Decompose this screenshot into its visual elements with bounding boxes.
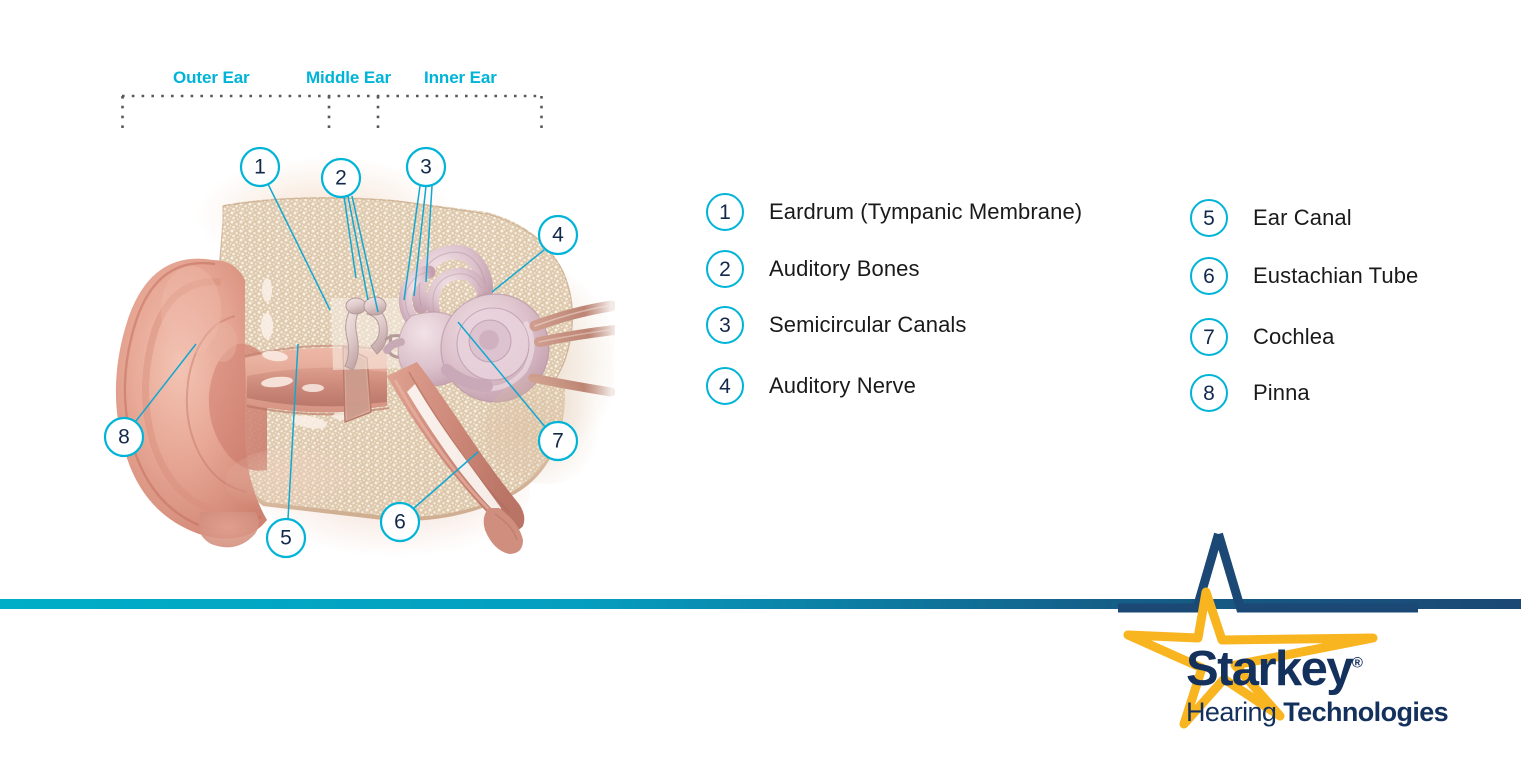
legend-item-1[interactable]: 1 Eardrum (Tympanic Membrane) [706,193,1082,231]
legend-item-5[interactable]: 5 Ear Canal [1190,199,1352,237]
logo-tagline-light: Hearing [1186,697,1283,727]
legend-item-2[interactable]: 2 Auditory Bones [706,250,920,288]
legend-label-2: Auditory Bones [769,256,920,282]
legend-label-4: Auditory Nerve [769,373,916,399]
logo-wordmark: Starkey® Hearing Technologies [1186,645,1521,726]
legend-label-7: Cochlea [1253,324,1334,350]
legend-badge-1: 1 [706,193,744,231]
legend-label-5: Ear Canal [1253,205,1352,231]
legend-badge-5: 5 [1190,199,1228,237]
legend-badge-4: 4 [706,367,744,405]
ear-anatomy-infographic: { "diagram": { "title": "Anatomy of the … [0,0,1521,781]
legend-label-8: Pinna [1253,380,1310,406]
legend-item-4[interactable]: 4 Auditory Nerve [706,367,916,405]
parts-legend: 1 Eardrum (Tympanic Membrane) 2 Auditory… [706,193,1506,423]
legend-badge-2: 2 [706,250,744,288]
registered-trademark-icon: ® [1352,655,1363,672]
legend-item-3[interactable]: 3 Semicircular Canals [706,306,967,344]
legend-badge-7: 7 [1190,318,1228,356]
ear-anatomy-illustration [95,130,615,570]
legend-badge-3: 3 [706,306,744,344]
legend-label-1: Eardrum (Tympanic Membrane) [769,199,1082,225]
logo-brand-name: Starkey® [1186,645,1363,694]
logo-tagline: Hearing Technologies [1186,699,1521,726]
legend-item-8[interactable]: 8 Pinna [1190,374,1310,412]
legend-badge-6: 6 [1190,257,1228,295]
section-label-outer-ear: Outer Ear [173,68,250,88]
logo-tagline-bold: Technologies [1283,697,1448,727]
section-label-middle-ear: Middle Ear [306,68,391,88]
section-label-inner-ear: Inner Ear [424,68,497,88]
legend-label-3: Semicircular Canals [769,312,967,338]
legend-item-7[interactable]: 7 Cochlea [1190,318,1334,356]
legend-label-6: Eustachian Tube [1253,263,1418,289]
legend-item-6[interactable]: 6 Eustachian Tube [1190,257,1418,295]
legend-badge-8: 8 [1190,374,1228,412]
logo-brand-text: Starkey [1186,642,1352,696]
